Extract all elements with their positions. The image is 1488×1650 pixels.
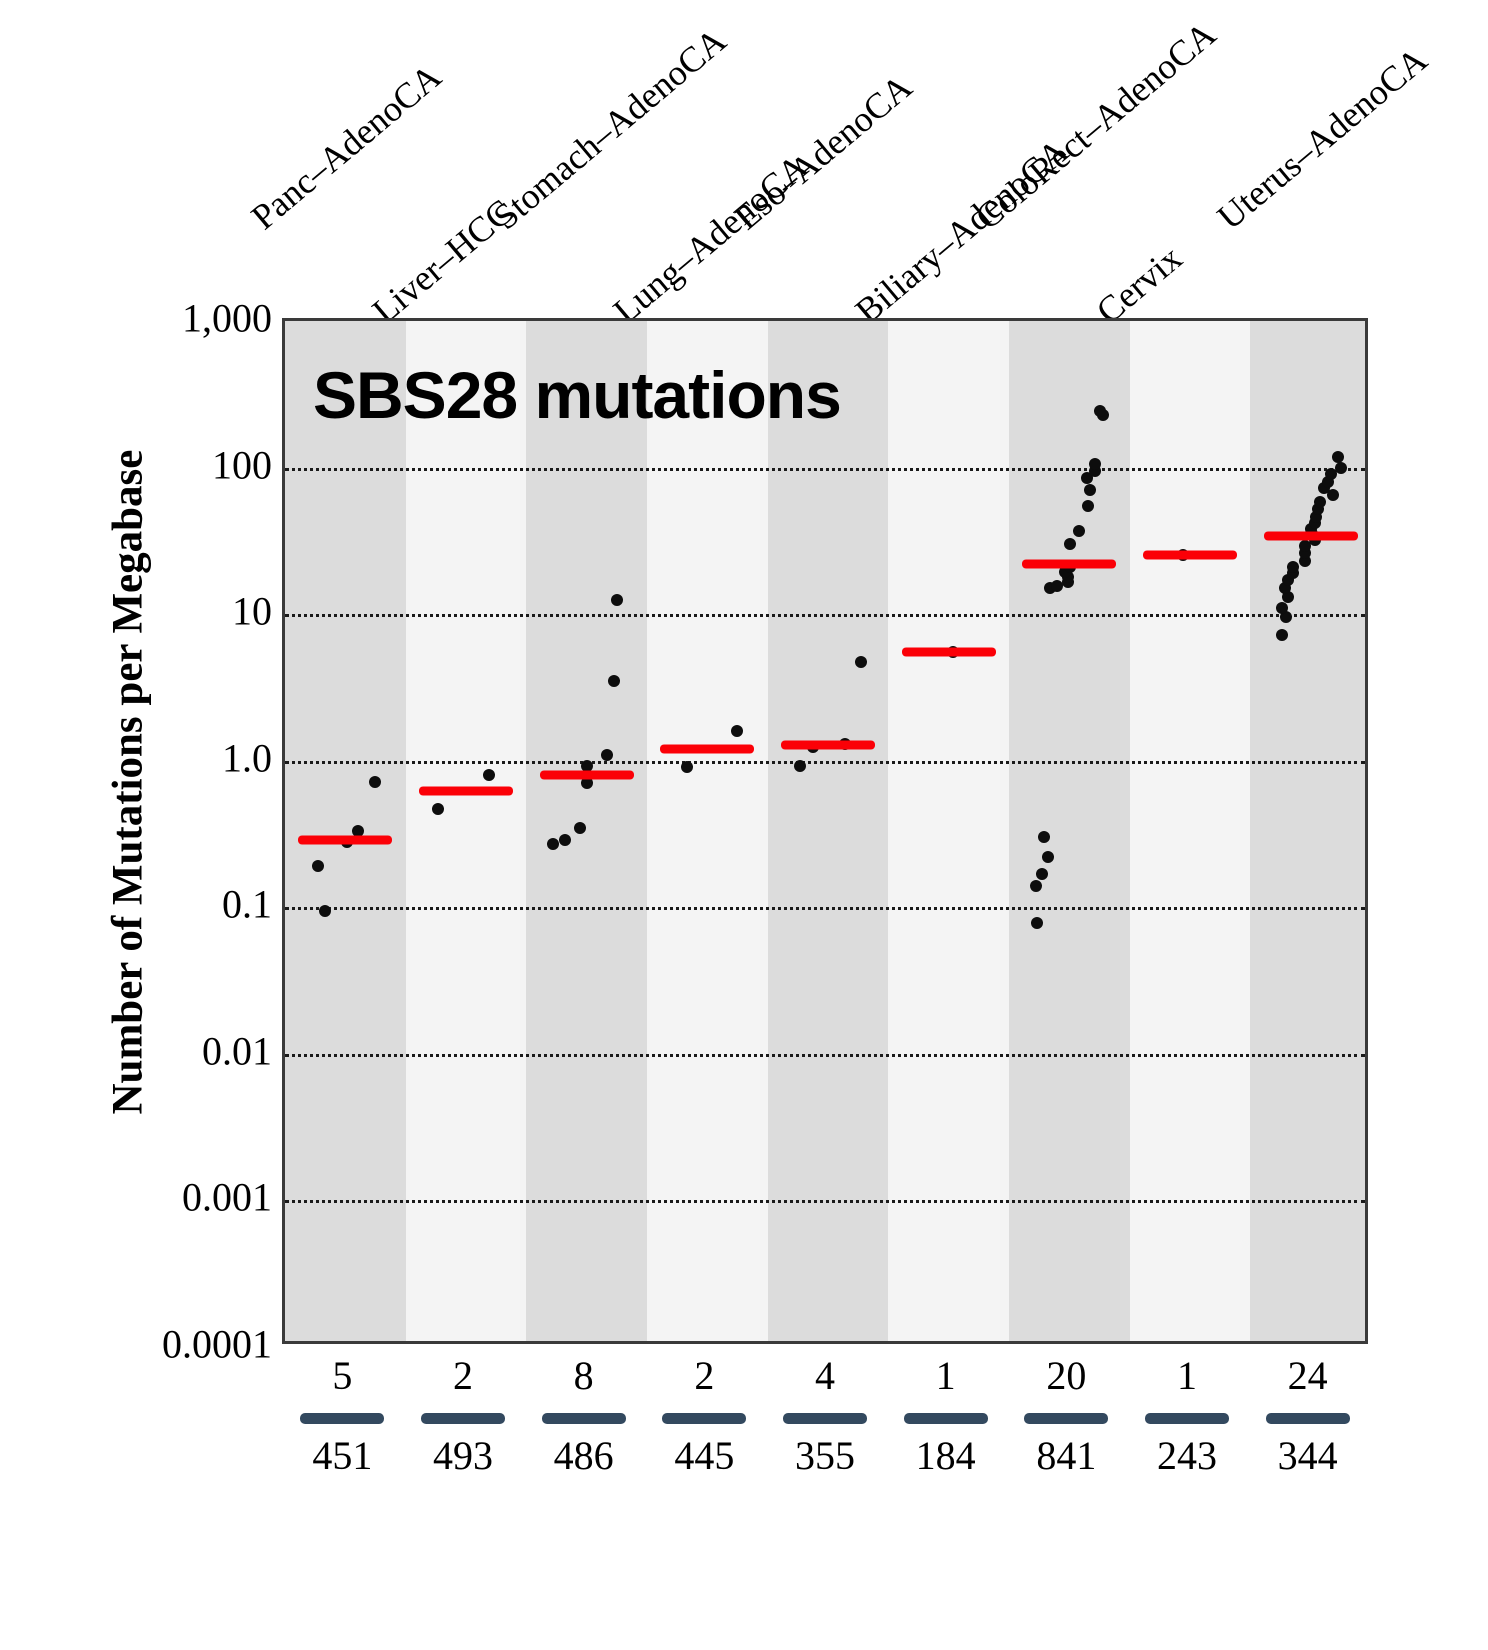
data-point [574, 822, 586, 834]
y-axis-tick-2: 10 [60, 588, 272, 635]
data-point [1064, 538, 1076, 550]
median-line [902, 648, 996, 657]
data-point [608, 675, 620, 687]
data-point [483, 769, 495, 781]
gridline [285, 1054, 1365, 1057]
category-band [768, 321, 889, 1341]
data-point [547, 838, 559, 850]
signature-count-2: 8 [574, 1352, 594, 1399]
median-line [1143, 550, 1237, 559]
total-sample-count-3: 445 [674, 1432, 734, 1479]
category-label-6: ColoRect–AdenoCA [967, 13, 1224, 238]
signature-count-1: 2 [453, 1352, 473, 1399]
data-point [1031, 917, 1043, 929]
data-point [1042, 851, 1054, 863]
y-axis-tick-1: 100 [60, 441, 272, 488]
data-point [731, 725, 743, 737]
count-divider-2 [542, 1413, 626, 1424]
category-band [406, 321, 527, 1341]
data-point [369, 776, 381, 788]
category-band [526, 321, 647, 1341]
data-point [319, 905, 331, 917]
category-band [1250, 321, 1368, 1341]
data-point [1089, 458, 1101, 470]
data-point [559, 834, 571, 846]
median-line [1264, 532, 1358, 541]
total-sample-count-6: 841 [1036, 1432, 1096, 1479]
total-sample-count-0: 451 [312, 1432, 372, 1479]
data-point [1036, 868, 1048, 880]
count-divider-3 [662, 1413, 746, 1424]
total-sample-count-2: 486 [554, 1432, 614, 1479]
chart-title: SBS28 mutations [313, 357, 841, 433]
gridline [285, 907, 1365, 910]
y-axis-tick-7: 0.0001 [60, 1321, 272, 1368]
data-point [1051, 580, 1063, 592]
category-label-2: Stomach–AdenoCA [485, 19, 734, 238]
gridline [285, 1200, 1365, 1203]
data-point [1038, 831, 1050, 843]
data-point [1073, 525, 1085, 537]
total-sample-count-1: 493 [433, 1432, 493, 1479]
data-point [1276, 629, 1288, 641]
data-point [601, 749, 613, 761]
y-axis-tick-4: 0.1 [60, 881, 272, 928]
signature-count-8: 24 [1288, 1352, 1328, 1399]
data-point [1030, 880, 1042, 892]
data-point [681, 761, 693, 773]
median-line [298, 835, 392, 844]
median-line [1022, 559, 1116, 568]
data-point [1084, 484, 1096, 496]
count-divider-1 [421, 1413, 505, 1424]
data-point [611, 594, 623, 606]
count-divider-4 [783, 1413, 867, 1424]
y-axis-tick-6: 0.001 [60, 1174, 272, 1221]
signature-count-6: 20 [1046, 1352, 1086, 1399]
data-point [312, 860, 324, 872]
category-band [285, 321, 406, 1341]
category-label-4: Eso–AdenoCA [726, 66, 920, 238]
data-point [1276, 602, 1288, 614]
category-band [888, 321, 1009, 1341]
total-sample-count-8: 344 [1278, 1432, 1338, 1479]
category-label-0: Panc–AdenoCA [243, 55, 449, 238]
data-point [794, 760, 806, 772]
category-band [1130, 321, 1251, 1341]
signature-count-5: 1 [936, 1352, 956, 1399]
signature-count-0: 5 [332, 1352, 352, 1399]
data-point [1082, 500, 1094, 512]
category-band [647, 321, 768, 1341]
data-point [1335, 462, 1347, 474]
signature-count-4: 4 [815, 1352, 835, 1399]
category-band [1009, 321, 1130, 1341]
count-divider-0 [300, 1413, 384, 1424]
data-point [1094, 405, 1106, 417]
total-sample-count-7: 243 [1157, 1432, 1217, 1479]
median-line [540, 770, 634, 779]
count-divider-5 [904, 1413, 988, 1424]
data-point [432, 803, 444, 815]
median-line [419, 787, 513, 796]
median-line [781, 741, 875, 750]
count-divider-8 [1266, 1413, 1350, 1424]
count-divider-7 [1145, 1413, 1229, 1424]
data-point [1332, 451, 1344, 463]
gridline [285, 468, 1365, 471]
total-sample-count-5: 184 [916, 1432, 976, 1479]
gridline [285, 761, 1365, 764]
y-axis-tick-3: 1.0 [60, 734, 272, 781]
data-point [855, 656, 867, 668]
gridline [285, 614, 1365, 617]
category-label-8: Uterus–AdenoCA [1209, 39, 1435, 238]
data-point [1287, 561, 1299, 573]
plot-frame: SBS28 mutations [282, 318, 1368, 1344]
total-sample-count-4: 355 [795, 1432, 855, 1479]
signature-count-3: 2 [694, 1352, 714, 1399]
count-divider-6 [1024, 1413, 1108, 1424]
y-axis-tick-0: 1,000 [60, 295, 272, 342]
median-line [660, 745, 754, 754]
y-axis-tick-5: 0.01 [60, 1027, 272, 1074]
signature-count-7: 1 [1177, 1352, 1197, 1399]
data-point [1314, 496, 1326, 508]
